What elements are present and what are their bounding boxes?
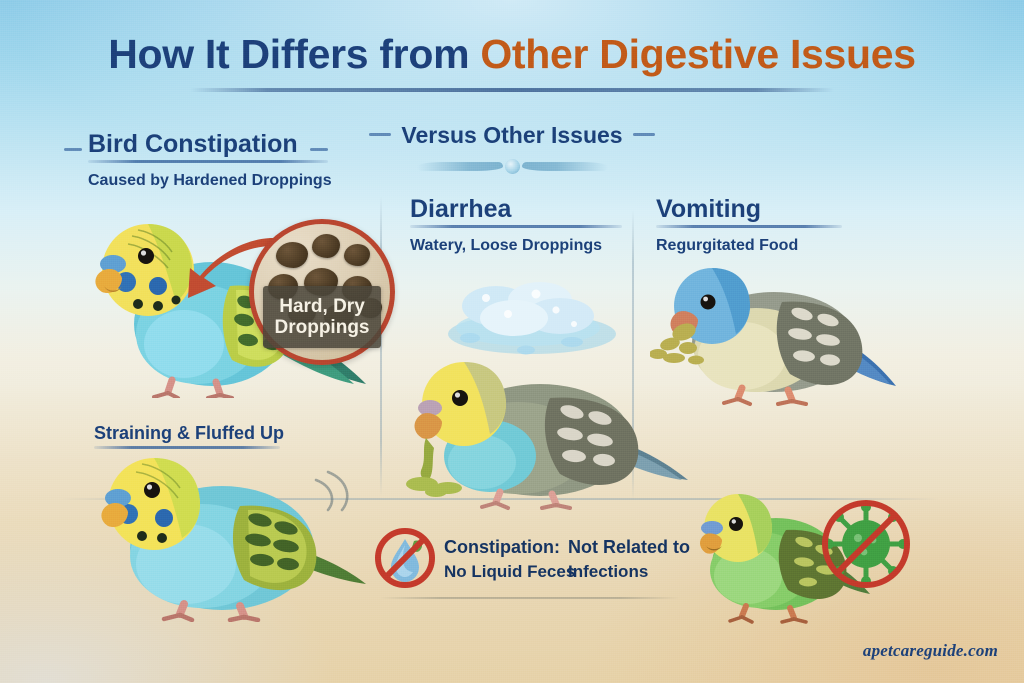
section-rule-straining xyxy=(94,446,280,449)
title-part-accent: Other Digestive Issues xyxy=(480,31,915,77)
flourish-wing-left-icon xyxy=(417,162,503,171)
section-vomiting: Vomiting Regurgitated Food xyxy=(656,196,842,255)
flourish-wing-right-icon xyxy=(522,162,608,171)
statement-constipation-line1: Constipation: xyxy=(444,534,575,560)
section-heading-straining: Straining & Fluffed Up xyxy=(94,424,280,443)
section-subheading-vomiting: Regurgitated Food xyxy=(656,237,842,255)
footer-divider xyxy=(380,597,680,599)
versus-label: Versus Other Issues xyxy=(401,122,622,149)
section-rule-constipation xyxy=(88,160,328,163)
section-diarrhea: Diarrhea Watery, Loose Droppings xyxy=(410,196,622,255)
site-watermark: apetcareguide.com xyxy=(863,641,998,661)
statement-infections-line1: Not Related to xyxy=(568,534,690,560)
page-title: How It Differs from Other Digestive Issu… xyxy=(0,34,1024,75)
title-underline xyxy=(190,88,834,92)
magnifier-caption-line2: Droppings xyxy=(275,317,370,338)
section-subheading-constipation: Caused by Hardened Droppings xyxy=(88,172,328,190)
title-part-primary: How It Differs from xyxy=(108,31,480,77)
magnifier-caption: Hard, Dry Droppings xyxy=(263,286,381,348)
illustration-vomiting-bird xyxy=(650,262,900,412)
magnifier-caption-line1: Hard, Dry xyxy=(279,296,365,317)
section-heading-vomiting: Vomiting xyxy=(656,196,842,222)
section-rule-vomiting xyxy=(656,225,842,228)
versus-dash-right-icon xyxy=(633,133,655,136)
illustration-watery-droppings-puddle xyxy=(440,280,620,358)
statement-constipation-line2: No Liquid Feces xyxy=(444,560,575,585)
section-bird-constipation: Bird Constipation Caused by Hardened Dro… xyxy=(88,131,328,190)
no-water-drop-icon xyxy=(374,527,436,589)
versus-dash-left-icon xyxy=(369,133,391,136)
section-rule-diarrhea xyxy=(410,225,622,228)
section-subheading-diarrhea: Watery, Loose Droppings xyxy=(410,237,622,255)
no-virus-icon xyxy=(818,496,914,592)
constipation-dash-right-icon xyxy=(310,148,328,151)
section-heading-diarrhea: Diarrhea xyxy=(410,196,622,222)
illustration-straining-bird xyxy=(80,452,370,622)
statement-infections-line2: Infections xyxy=(568,560,690,585)
statement-constipation: Constipation: No Liquid Feces xyxy=(444,534,575,585)
section-straining: Straining & Fluffed Up xyxy=(94,424,280,449)
illustration-diarrhea-bird xyxy=(400,352,690,512)
statement-infections: Not Related to Infections xyxy=(568,534,690,585)
section-heading-constipation: Bird Constipation xyxy=(88,131,328,157)
flourish-dot-icon xyxy=(505,159,520,174)
constipation-dash-left-icon xyxy=(64,148,82,151)
infographic-poster: How It Differs from Other Digestive Issu… xyxy=(0,0,1024,683)
